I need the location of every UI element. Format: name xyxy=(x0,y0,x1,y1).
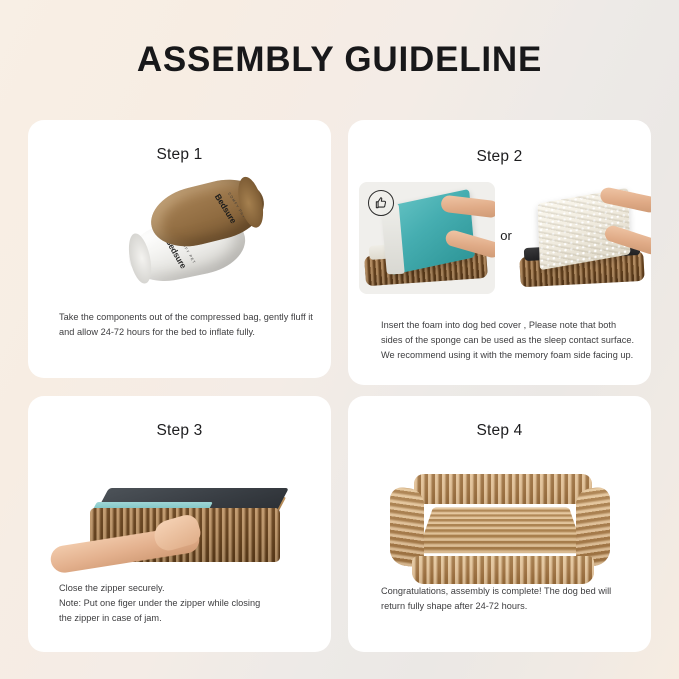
step-2-caption: Insert the foam into dog bed cover , Ple… xyxy=(381,318,635,363)
finished-dog-bed xyxy=(390,474,610,588)
step-2-title: Step 2 xyxy=(348,148,651,166)
step-card-3: Step 3 Close the zipper securely. Note: … xyxy=(28,396,331,652)
step-2-option-teal-foam xyxy=(359,182,495,294)
bed-backrest xyxy=(414,474,592,504)
thumbs-up-icon xyxy=(368,190,394,216)
step-card-4: Step 4 Congratulations, a xyxy=(348,396,651,652)
assembly-guideline-page: ASSEMBLY GUIDELINE Step 1 Bedsure COMFY … xyxy=(0,0,679,679)
bed-mattress xyxy=(417,507,584,553)
step-3-artwork xyxy=(28,466,331,591)
step-2-option-memory-foam xyxy=(516,182,651,294)
step-card-1: Step 1 Bedsure COMFY PET Bedsure COMFY P… xyxy=(28,120,331,378)
step-4-title: Step 4 xyxy=(348,422,651,440)
brown-bag-brand-label: Bedsure xyxy=(213,192,239,225)
page-title: ASSEMBLY GUIDELINE xyxy=(0,40,679,80)
bed-rib-texture xyxy=(417,507,584,553)
step-3-caption: Close the zipper securely. Note: Put one… xyxy=(59,581,313,626)
bed-rib-texture xyxy=(412,556,594,584)
step-1-caption: Take the components out of the compresse… xyxy=(59,310,313,340)
step-1-artwork: Bedsure COMFY PET Bedsure COMFY PET xyxy=(28,178,331,298)
step-card-2: Step 2 or xyxy=(348,120,651,385)
bed-front-edge xyxy=(412,556,594,584)
step-2-artwork: or xyxy=(348,182,651,297)
or-separator-label: or xyxy=(494,228,518,243)
bed-rib-texture xyxy=(414,474,592,504)
step-3-title: Step 3 xyxy=(28,422,331,440)
step-1-title: Step 1 xyxy=(28,146,331,164)
step-4-artwork xyxy=(348,464,651,599)
step-4-caption: Congratulations, assembly is complete! T… xyxy=(381,584,633,614)
